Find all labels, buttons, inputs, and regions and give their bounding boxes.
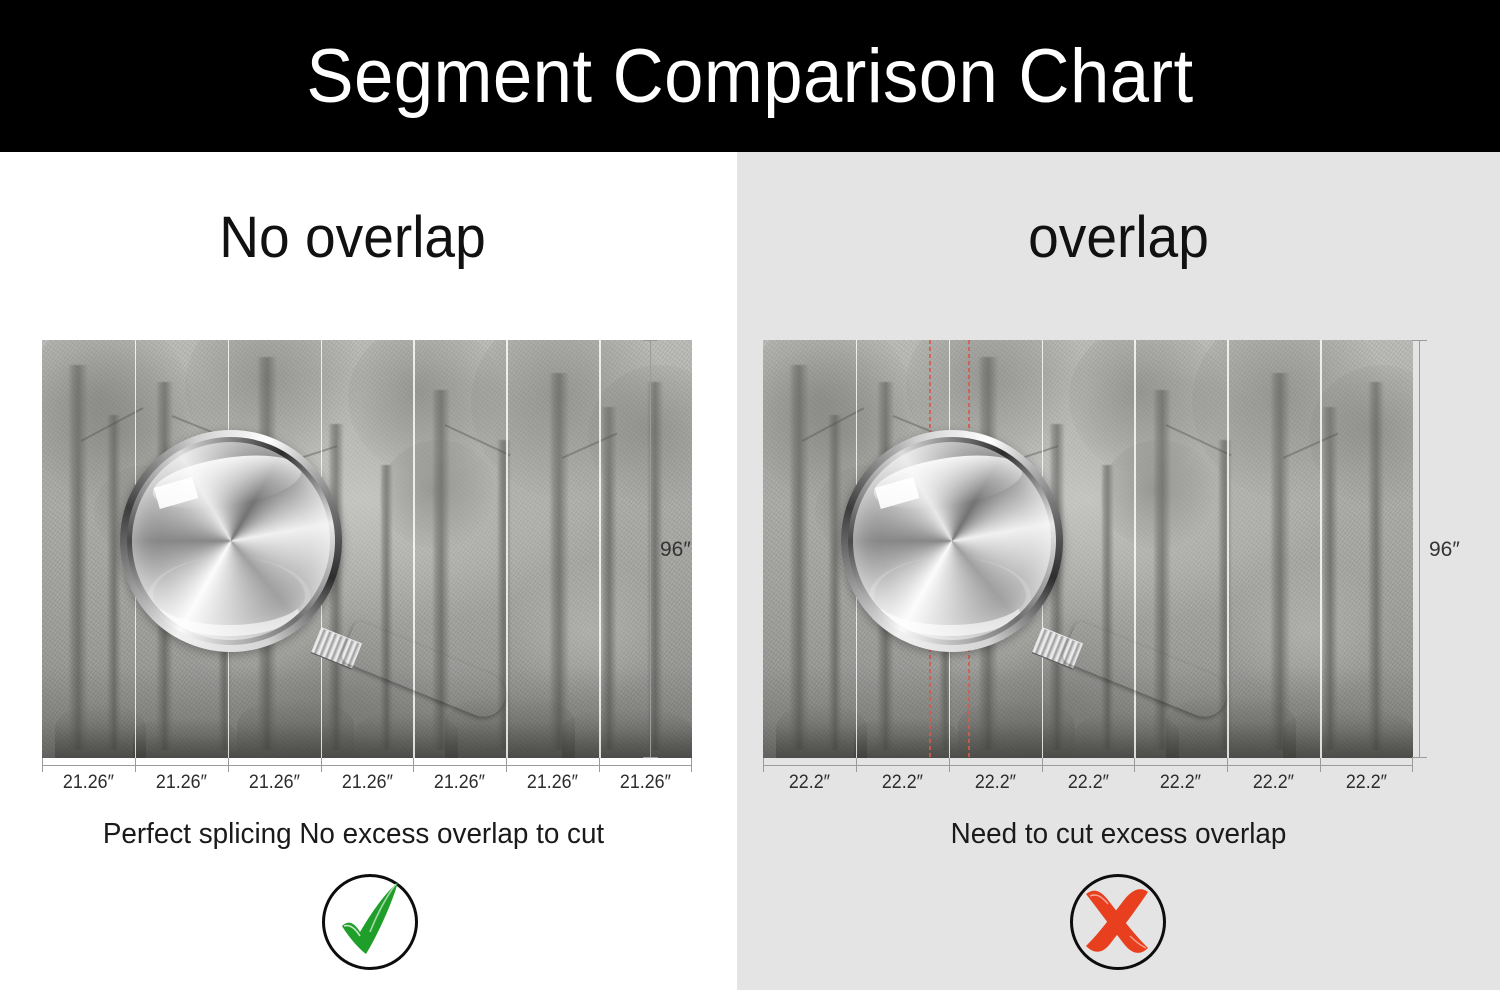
title-banner: Segment Comparison Chart — [0, 0, 1500, 152]
segment-label: 22.2″ — [766, 772, 853, 794]
segment-label: 21.26″ — [509, 772, 596, 794]
segment-label: 22.2″ — [951, 772, 1038, 794]
cross-mark-icon — [1070, 874, 1166, 970]
mural-seam — [599, 340, 601, 758]
mural-seam — [1227, 340, 1229, 758]
panel-overlap: overlap — [737, 152, 1500, 990]
mural-overlap — [763, 340, 1413, 758]
panel-heading-no-overlap: No overlap — [2, 204, 702, 271]
verdict-check — [322, 874, 418, 970]
caption-overlap: Need to cut excess overlap — [752, 818, 1484, 851]
mural-no-overlap — [42, 340, 692, 758]
height-dimension-line-left — [650, 340, 651, 758]
mural-seam — [949, 340, 951, 758]
panel-no-overlap: No overlap — [0, 152, 737, 990]
segment-labels-right: 22.2″ 22.2″ 22.2″ 22.2″ 22.2″ 22.2″ 22.2… — [763, 772, 1413, 794]
overlap-marker-line — [968, 340, 970, 758]
segment-label: 22.2″ — [1230, 772, 1317, 794]
segment-label: 21.26″ — [230, 772, 317, 794]
page-title: Segment Comparison Chart — [306, 33, 1193, 120]
segment-comparison-page: Segment Comparison Chart No overlap — [0, 0, 1500, 990]
check-mark-icon — [322, 874, 418, 970]
segment-label: 22.2″ — [1323, 772, 1410, 794]
segment-label: 22.2″ — [859, 772, 946, 794]
segment-labels-left: 21.26″ 21.26″ 21.26″ 21.26″ 21.26″ 21.26… — [42, 772, 692, 794]
mural-seam — [321, 340, 323, 758]
segment-label: 21.26″ — [602, 772, 689, 794]
caption-no-overlap: Perfect splicing No excess overlap to cu… — [0, 818, 707, 851]
verdict-cross — [1070, 874, 1166, 970]
mural-seam — [856, 340, 858, 758]
height-label-right: 96″ — [1429, 538, 1460, 562]
mural-seam — [1320, 340, 1322, 758]
mural-seam — [1042, 340, 1044, 758]
mural-seam — [135, 340, 137, 758]
mural-seam — [228, 340, 230, 758]
segment-label: 21.26″ — [323, 772, 410, 794]
segment-ticks-right — [763, 758, 1413, 772]
comparison-panels: No overlap — [0, 152, 1500, 990]
panel-heading-overlap: overlap — [756, 204, 1481, 271]
segment-label: 22.2″ — [1137, 772, 1224, 794]
mural-seam — [413, 340, 415, 758]
segment-label: 22.2″ — [1044, 772, 1131, 794]
forest-mural-image — [42, 340, 692, 758]
mural-seam — [506, 340, 508, 758]
forest-mural-image — [763, 340, 1413, 758]
segment-label: 21.26″ — [416, 772, 503, 794]
mural-seam — [1134, 340, 1136, 758]
height-label-left: 96″ — [660, 538, 691, 562]
segment-ticks-left — [42, 758, 692, 772]
segment-label: 21.26″ — [138, 772, 225, 794]
segment-label: 21.26″ — [45, 772, 132, 794]
overlap-marker-line — [929, 340, 931, 758]
height-dimension-line-right — [1419, 340, 1420, 758]
